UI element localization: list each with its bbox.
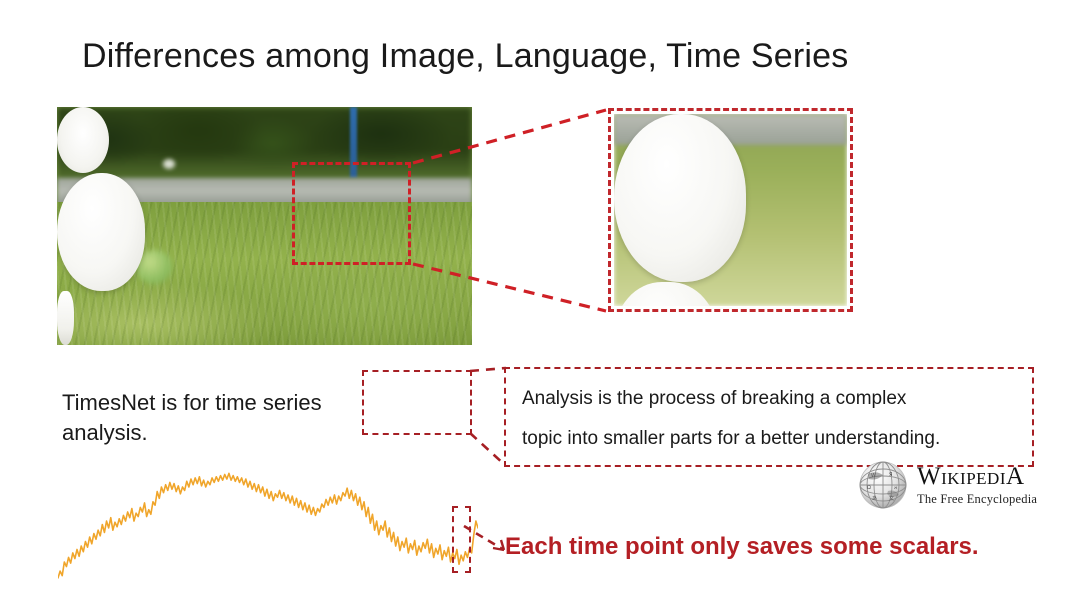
time-series-line-chart <box>58 462 478 587</box>
scalar-caption: Each time point only saves some scalars. <box>505 533 979 561</box>
definition-connector-top <box>470 368 506 371</box>
magnified-dog-head-crop <box>608 108 853 312</box>
wikipedia-attribution: W Я Ω א あ 文 WIKIPEDIA The Free Encyclope… <box>858 460 1037 510</box>
magnified-crop-content <box>614 114 847 306</box>
scalar-arrow-head <box>493 540 504 550</box>
wikipedia-tagline: The Free Encyclopedia <box>917 493 1037 506</box>
timesnet-sentence-line1: TimesNet is for time series <box>62 388 392 418</box>
dog-tail <box>57 107 109 173</box>
crop-dog-head <box>614 282 718 306</box>
timesnet-sentence-line2: analysis. <box>62 418 392 448</box>
wikipedia-globe-icon: W Я Ω א あ 文 <box>858 460 908 510</box>
wikipedia-wordmark: WIKIPEDIA <box>917 464 1037 489</box>
analysis-word-highlight-box <box>362 370 472 435</box>
analysis-definition-callout: Analysis is the process of breaking a co… <box>504 367 1034 467</box>
photo-dog <box>57 107 145 345</box>
time-series-line <box>58 473 478 578</box>
definition-line-2: topic into smaller parts for a better un… <box>522 419 1016 459</box>
svg-text:א: א <box>894 485 897 491</box>
svg-text:Ω: Ω <box>867 485 871 491</box>
dog-body <box>57 173 145 291</box>
slide-canvas: Differences among Image, Language, Time … <box>0 0 1080 608</box>
wikipedia-text-block: WIKIPEDIA The Free Encyclopedia <box>917 464 1037 506</box>
timesnet-sentence: TimesNet is for time series analysis. <box>62 388 392 448</box>
svg-text:あ: あ <box>872 496 877 502</box>
wikipedia-wordmark-last: A <box>1006 463 1025 490</box>
crop-dog-body <box>614 114 746 282</box>
definition-line-1: Analysis is the process of breaking a co… <box>522 379 1016 419</box>
red-dashed-selection-box <box>292 162 411 265</box>
crop-dog <box>614 114 746 306</box>
svg-text:Я: Я <box>889 472 892 478</box>
single-time-point-box <box>452 506 471 573</box>
page-title: Differences among Image, Language, Time … <box>82 34 848 78</box>
wikipedia-wordmark-cap: W <box>917 463 941 490</box>
wikipedia-wordmark-rest: IKIPEDI <box>941 469 1006 488</box>
dog-front-leg-left <box>57 291 74 345</box>
